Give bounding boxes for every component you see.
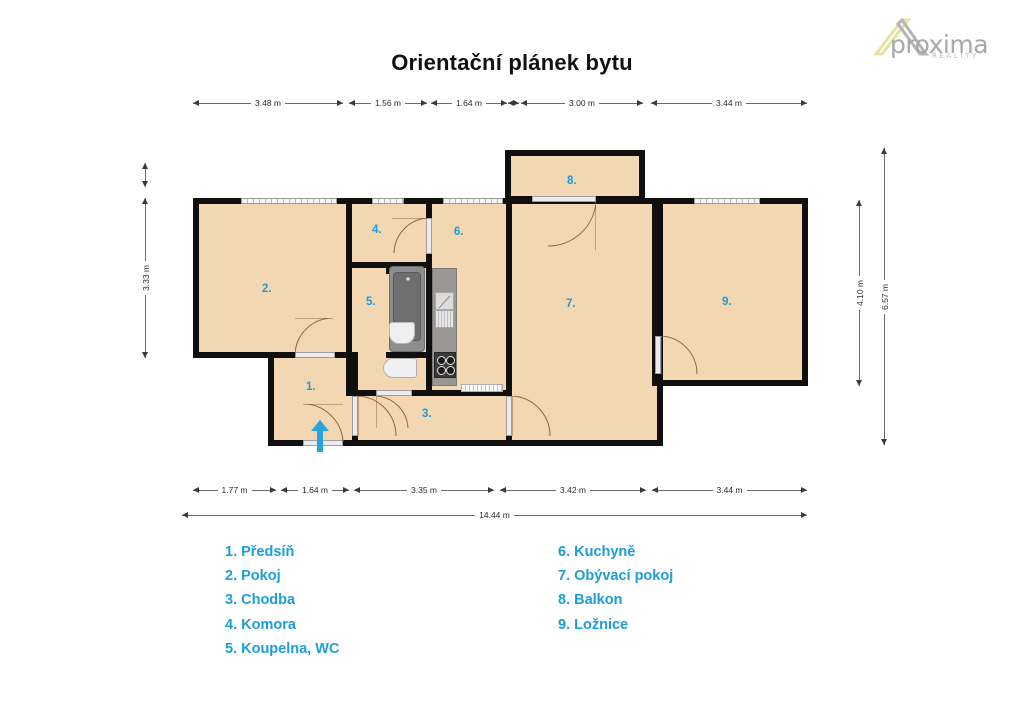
door-komora-arc [392,218,428,254]
room-1-label: 1. [306,381,316,393]
legend-item: 7. Obývací pokoj [558,564,673,588]
legend-column-2: 6. Kuchyně 7. Obývací pokoj 8. Balkon 9.… [558,540,673,637]
room-6-label: 6. [454,226,464,238]
room-2-label: 2. [262,283,272,295]
door-koupelna-arc [376,396,412,430]
stove-fixture [434,352,456,378]
room-7-label: 7. [566,298,576,310]
legend-item: 9. Ložnice [558,613,673,637]
floorplan-drawing: 8. 2. 4. 5. 6. 7. 9. 1. 3. [0,0,1024,724]
legend-item: 1. Předsíň [225,540,339,564]
door-chodba-obyvaci-arc [512,396,552,436]
legend-item: 3. Chodba [225,588,339,612]
room-5-label: 5. [366,296,376,308]
window-pokoj [241,198,337,204]
bathroom-sink-fixture [389,322,415,344]
legend-column-1: 1. Předsíň 2. Pokoj 3. Chodba 4. Komora … [225,540,339,661]
door-pokoj-arc [295,318,335,354]
window-kuchyne [443,198,503,204]
wall-loznice-bottom [652,380,808,386]
kitchen-sink-fixture [435,292,454,310]
legend-item: 4. Komora [225,613,339,637]
door-balkon-arc [548,202,596,250]
door-loznice-arc [661,336,699,374]
window-loznice [694,198,760,204]
room-9-label: 9. [722,296,732,308]
toilet-fixture [383,358,417,378]
window-komora [372,198,404,204]
legend-item: 2. Pokoj [225,564,339,588]
floorplan-page: proxima REALITY Orientační plánek bytu 3… [0,0,1024,724]
legend-item: 6. Kuchyně [558,540,673,564]
wall-pokoj-bottom [193,352,273,358]
room-4-label: 4. [372,224,382,236]
legend-item: 8. Balkon [558,588,673,612]
wall-pokoj-komora [346,198,352,396]
entrance-arrow-icon [310,420,330,452]
radiator-fixture [461,384,503,392]
kitchen-drainer [435,310,454,328]
legend-item: 5. Koupelna, WC [225,637,339,661]
room-3-label: 3. [422,408,432,420]
room-8-label: 8. [567,175,577,187]
